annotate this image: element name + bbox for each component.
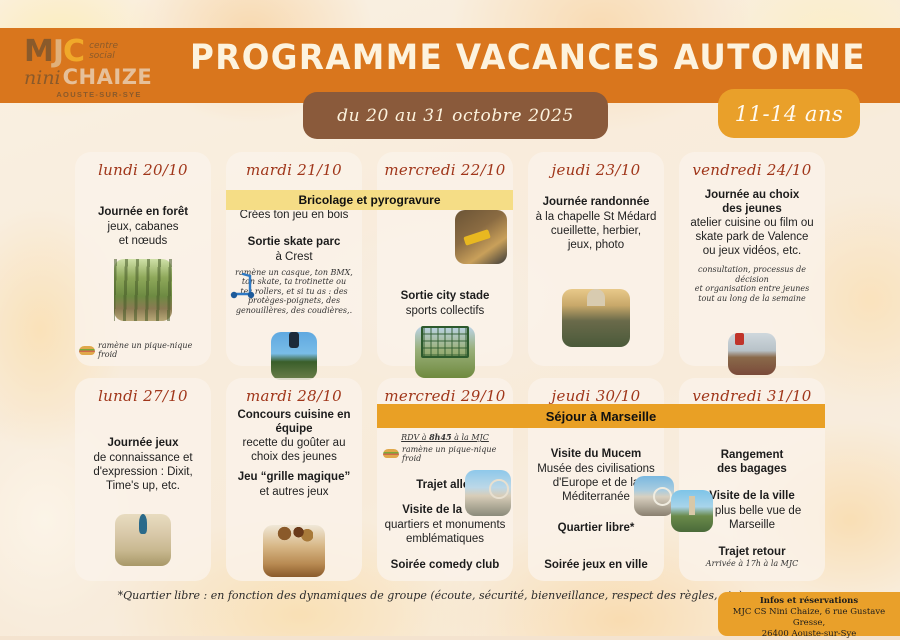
rdv-note: RDV à 8h45 à la MJC (383, 433, 507, 443)
cinema-photo (728, 333, 776, 375)
citystade-photo (415, 326, 475, 378)
rdv-time: 8h45 (429, 432, 452, 442)
skatepark-photo (271, 332, 317, 380)
activity-sub: atelier cuisine ou film ou (685, 216, 819, 230)
contact-box: Infos et réservations MJC CS Nini Chaize… (718, 592, 900, 636)
activity-title: Soirée comedy club (383, 559, 507, 573)
activity-sub: d'expression : Dixit, (81, 465, 205, 479)
age-badge: 11-14 ans (718, 89, 860, 138)
lunch-note-label: ramène un pique-nique froid (98, 341, 211, 359)
day-card-vendredi-24-10: vendredi 24/10 Journée au choix des jeun… (679, 152, 825, 366)
jeux-photo (115, 514, 171, 566)
cookies-photo (263, 525, 325, 577)
activity-title: équipe (232, 423, 356, 437)
activity-sub: à la chapelle St Médard (534, 210, 658, 224)
activity-sub: recette du goûter au (232, 436, 356, 450)
activity-title: des bagages (685, 463, 819, 477)
banner-subtitle: Crées ton jeu en bois (232, 208, 356, 222)
banner-sejour-label: Séjour à Marseille (546, 409, 657, 424)
activity-italic-note: Arrivée à 17h à la MJC (685, 559, 819, 569)
activity-sub: skate park de Valence (685, 230, 819, 244)
logo-chaize-word: CHAIZE (63, 65, 153, 89)
contact-address-line1: MJC CS Nini Chaize, 6 rue Gustave Gresse… (724, 607, 894, 629)
activity-sub: emblématiques (383, 532, 507, 546)
day-title-mardi-28-10: mardi 28/10 (232, 378, 356, 405)
mjc-logo: M J C centre social nini CHAIZE AOUSTE-S… (24, 38, 174, 96)
activity-sub: quartiers et monuments (383, 518, 507, 532)
logo-city-label: AOUSTE-SUR-SYE (24, 90, 174, 99)
day-title-lundi-27-10: lundi 27/10 (81, 378, 205, 405)
activity-sub: de connaissance et (81, 451, 205, 465)
activity-sub: Time's up, etc. (81, 479, 205, 493)
banner-bricolage: Bricolage et pyrogravure (226, 190, 513, 210)
notredame-photo (671, 490, 713, 532)
activity-title: Sortie city stade (383, 290, 507, 304)
activity-title: Concours cuisine en (232, 409, 356, 423)
sandwich-icon (79, 346, 95, 355)
contact-address-line2: 26400 Aouste-sur-Sye (724, 629, 894, 640)
day-title-vendredi-31-10: vendredi 31/10 (685, 378, 819, 405)
lunch-note: ramène un pique-nique froid (383, 445, 507, 463)
logo-letter-c: C (63, 38, 84, 66)
logo-letter-j: J (53, 38, 63, 66)
forest-photo (114, 259, 172, 321)
activity-title: des jeunes (685, 203, 819, 217)
banner-bricolage-label: Bricolage et pyrogravure (298, 193, 440, 207)
day-title-vendredi-24-10: vendredi 24/10 (685, 152, 819, 179)
activity-title: Journée jeux (81, 437, 205, 451)
activity-sub: jeux, cabanes (81, 220, 205, 234)
activity-title: Jeu “grille magique” (232, 471, 356, 485)
tools-photo (455, 210, 507, 264)
activity-italic-note: et organisation entre jeunes (685, 284, 819, 294)
day-title-mercredi-29-10: mercredi 29/10 (383, 378, 507, 405)
activity-sub: ou jeux vidéos, etc. (685, 244, 819, 258)
activity-italic-note: tout au long de la semaine (685, 294, 819, 304)
scooter-icon (228, 268, 262, 302)
date-range-label: du 20 au 31 octobre 2025 (337, 106, 574, 126)
day-card-jeudi-23-10: jeudi 23/10 Journée randonnée à la chape… (528, 152, 664, 366)
logo-nini-word: nini (24, 67, 61, 89)
activity-title: Quartier libre* (534, 522, 658, 536)
activity-sub: et nœuds (81, 234, 205, 248)
logo-centre-social: centre social (89, 41, 118, 61)
day-card-lundi-20-10: lundi 20/10 Journée en forêt jeux, caban… (75, 152, 211, 366)
activity-title: Journée en forêt (81, 206, 205, 220)
activity-sub: Musée des civilisations (534, 462, 658, 476)
logo-letter-m: M (24, 38, 53, 66)
day-card-mercredi-22-10: mercredi 22/10 Sortie city stade sports … (377, 152, 513, 366)
day-title-jeudi-30-10: jeudi 30/10 (534, 378, 658, 405)
contact-title: Infos et réservations (724, 596, 894, 607)
randonnee-photo (562, 289, 630, 347)
activity-sub: jeux, photo (534, 238, 658, 252)
activity-title: Journée au choix (685, 189, 819, 203)
day-card-mardi-21-10: mardi 21/10 Crées ton jeu en bois Sortie… (226, 152, 362, 366)
activity-title: Sortie skate parc (232, 236, 356, 250)
lunch-note: ramène un pique-nique froid (79, 341, 211, 359)
day-title-mercredi-22-10: mercredi 22/10 (383, 152, 507, 179)
activity-title: Visite du Mucem (534, 448, 658, 462)
mucem-photo (634, 476, 674, 516)
logo-social-word: social (89, 51, 115, 61)
activity-title: Rangement (685, 449, 819, 463)
page-title: PROGRAMME VACANCES AUTOMNE (190, 38, 866, 78)
activity-title: Soirée jeux en ville (534, 559, 658, 573)
activity-title: Trajet retour (685, 546, 819, 560)
logo-bottom-row: nini CHAIZE (24, 65, 174, 89)
rdv-post: à la MJC (452, 433, 489, 442)
day-title-lundi-20-10: lundi 20/10 (81, 152, 205, 179)
activity-sub: choix des jeunes (232, 450, 356, 464)
day-card-lundi-27-10: lundi 27/10 Journée jeux de connaissance… (75, 378, 211, 581)
activity-italic-note: consultation, processus de décision (685, 265, 819, 284)
activity-sub: et autres jeux (232, 485, 356, 499)
sandwich-icon (383, 449, 399, 458)
day-card-mardi-28-10: mardi 28/10 Concours cuisine en équipe r… (226, 378, 362, 581)
date-range-pill: du 20 au 31 octobre 2025 (303, 92, 608, 139)
activity-sub: sports collectifs (383, 304, 507, 318)
activity-title: Journée randonnée (534, 196, 658, 210)
logo-centre-word: centre (89, 41, 118, 51)
rdv-pre: RDV à (401, 433, 429, 442)
age-badge-label: 11-14 ans (735, 102, 844, 126)
day-title-jeudi-23-10: jeudi 23/10 (534, 152, 658, 179)
activity-sub: cueillette, herbier, (534, 224, 658, 238)
banner-sejour-marseille: Séjour à Marseille (377, 404, 825, 428)
logo-top-row: M J C centre social (24, 38, 174, 68)
lunch-note-label: ramène un pique-nique froid (402, 445, 507, 463)
marseille-photo (465, 470, 511, 516)
day-title-mardi-21-10: mardi 21/10 (232, 152, 356, 179)
activity-sub: à Crest (232, 250, 356, 264)
